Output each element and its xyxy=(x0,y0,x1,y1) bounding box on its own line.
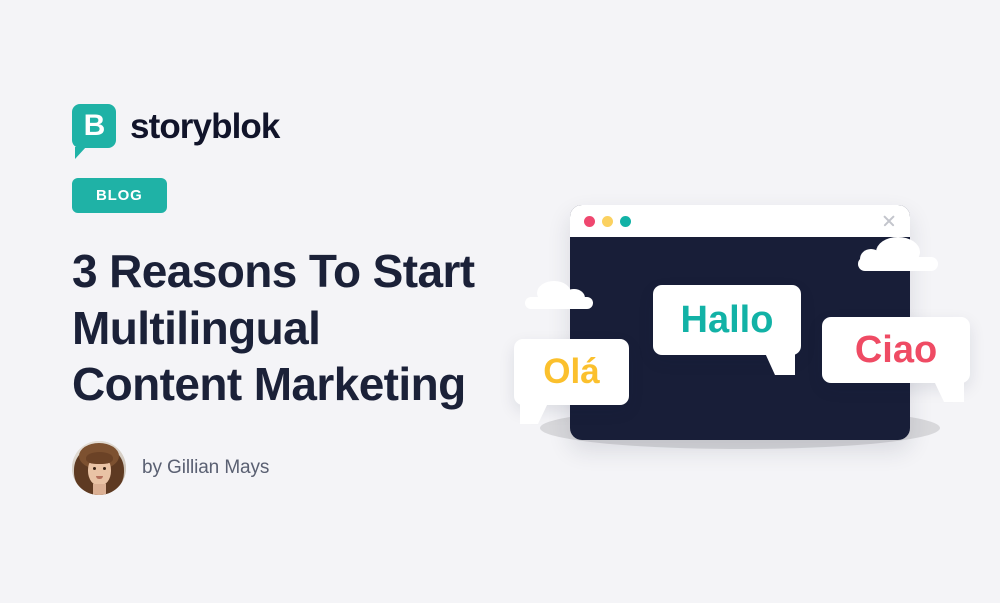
speech-bubble-tail xyxy=(934,381,964,402)
close-icon[interactable] xyxy=(882,214,896,228)
logo-letter: B xyxy=(84,111,105,141)
speech-bubble-ciao: Ciao xyxy=(822,317,970,383)
avatar xyxy=(72,441,126,495)
storyblok-wordmark: storyblok xyxy=(130,109,279,144)
speech-bubble-hallo-text: Hallo xyxy=(681,299,774,342)
page-title: 3 Reasons To Start Multilingual Content … xyxy=(72,243,502,413)
content-column: B storyblok BLOG 3 Reasons To Start Mult… xyxy=(72,98,502,495)
speech-bubble-hallo: Hallo xyxy=(653,285,801,355)
speech-bubble-ola: Olá xyxy=(514,339,629,405)
author-name: by Gillian Mays xyxy=(142,457,269,479)
window-titlebar xyxy=(570,205,910,237)
cloud-left-icon xyxy=(525,281,593,309)
close-dot-icon[interactable] xyxy=(584,216,595,227)
maximize-dot-icon[interactable] xyxy=(620,216,631,227)
blog-category-badge[interactable]: BLOG xyxy=(72,178,167,213)
speech-bubble-tail xyxy=(520,403,548,424)
storyblok-logo-mark-icon: B xyxy=(72,104,116,148)
author-byline-row: by Gillian Mays xyxy=(72,441,502,495)
blog-hero-card: B storyblok BLOG 3 Reasons To Start Mult… xyxy=(0,0,1000,603)
minimize-dot-icon[interactable] xyxy=(602,216,613,227)
multilingual-illustration: Olá Hallo Ciao xyxy=(500,185,980,475)
speech-bubble-tail xyxy=(765,353,795,375)
speech-bubble-ciao-text: Ciao xyxy=(855,329,937,372)
cloud-right-icon xyxy=(858,237,938,271)
speech-bubble-ola-text: Olá xyxy=(543,352,599,392)
storyblok-logo[interactable]: B storyblok xyxy=(72,98,502,154)
